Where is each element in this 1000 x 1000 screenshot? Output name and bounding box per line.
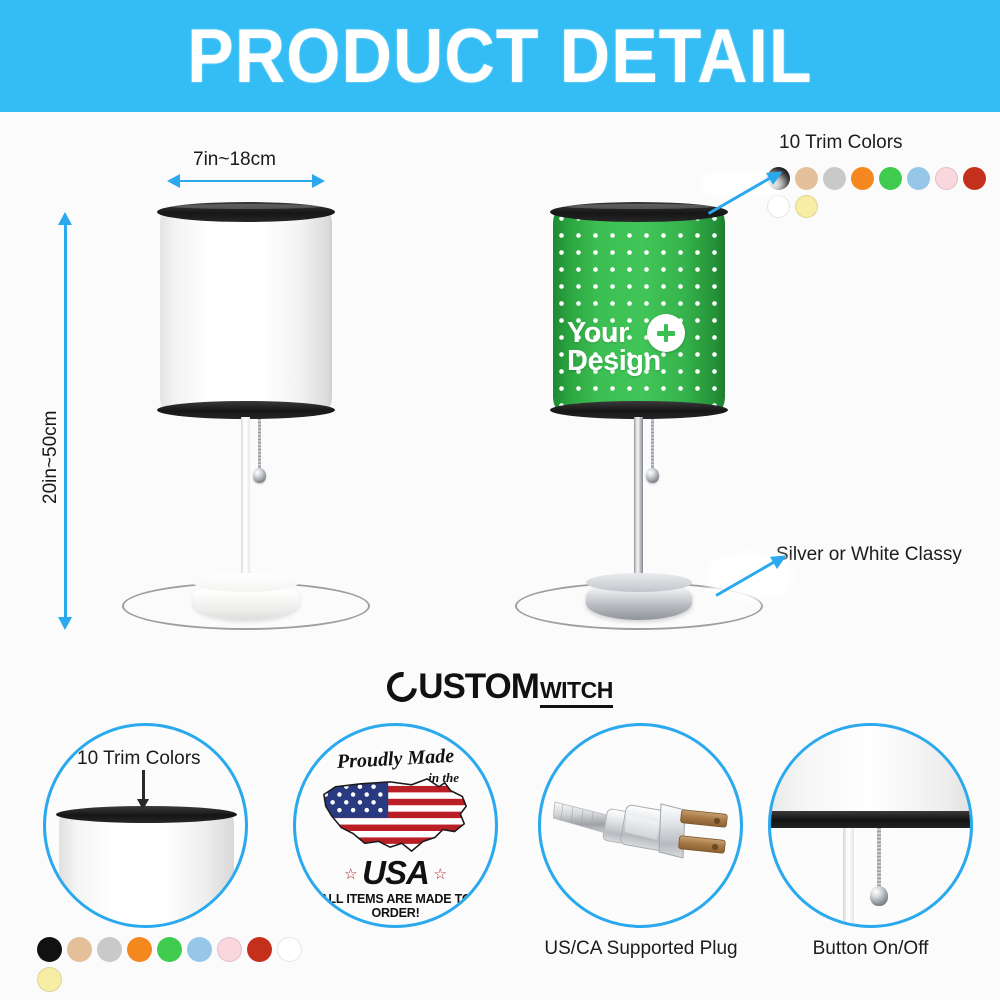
- shade-trim-bottom: [768, 811, 973, 828]
- pull-chain-bead[interactable]: [253, 468, 266, 483]
- lamp-base-top: [193, 573, 299, 592]
- trim-swatch-pink[interactable]: [217, 937, 242, 962]
- star-icon-right: ☆: [434, 865, 447, 883]
- product-detail-page: PRODUCT DETAIL 7in~18cm 20in~50cm: [0, 0, 1000, 1000]
- feature-caption: US/CA Supported Plug: [507, 938, 775, 960]
- shade-surface: [553, 210, 725, 410]
- brand-logo: USTOM WITCH: [0, 657, 1000, 717]
- trim-swatch-pink[interactable]: [935, 167, 958, 190]
- your-design-text: Your Design: [567, 320, 717, 375]
- trim-swatch-green[interactable]: [157, 937, 182, 962]
- pull-chain[interactable]: [877, 828, 881, 890]
- logo-main-text: USTOM: [418, 667, 539, 707]
- trim-swatch-gray[interactable]: [97, 937, 122, 962]
- lamp-base: [193, 580, 299, 620]
- trim-colors-callout-label: 10 Trim Colors: [779, 132, 903, 154]
- plus-icon[interactable]: [647, 314, 685, 352]
- usa-title: Proudly Made: [296, 743, 496, 776]
- pull-chain-bead[interactable]: [870, 886, 888, 906]
- trim-swatch-white[interactable]: [767, 195, 790, 218]
- pull-chain[interactable]: [258, 419, 261, 471]
- trim-swatch-yellow[interactable]: [795, 195, 818, 218]
- shade-surface: [160, 210, 332, 410]
- star-icon-left: ☆: [344, 865, 357, 883]
- header-banner: PRODUCT DETAIL: [0, 0, 1000, 112]
- usa-word: USA: [296, 854, 495, 892]
- usa-map-flag-icon: [318, 773, 474, 857]
- trim-swatch-red[interactable]: [247, 937, 272, 962]
- lamp-base-top: [586, 573, 692, 592]
- trim-swatch-orange[interactable]: [127, 937, 152, 962]
- shade-trim-top: [157, 202, 335, 222]
- feature-caption: Button On/Off: [754, 938, 987, 960]
- width-dimension-arrow: [178, 180, 314, 182]
- logo-c-icon: [381, 666, 423, 708]
- height-dimension-arrow: [64, 224, 67, 618]
- your-design-line2: Design: [567, 348, 717, 376]
- height-dimension-label: 20in~50cm: [40, 411, 62, 504]
- shade-trim-top: [550, 202, 728, 222]
- trim-swatch-green[interactable]: [879, 167, 902, 190]
- feature-circle: Proudly Made in the: [293, 723, 498, 928]
- trim-swatch-yellow[interactable]: [37, 967, 62, 992]
- usa-footer-text: ALL ITEMS ARE MADE TO ORDER!: [296, 892, 495, 920]
- trim-swatch-light-blue[interactable]: [187, 937, 212, 962]
- page-title: PRODUCT DETAIL: [187, 13, 812, 100]
- pull-chain[interactable]: [651, 419, 654, 471]
- trim-swatch-white[interactable]: [277, 937, 302, 962]
- base-finish-callout-label: Silver or White Classy: [776, 544, 962, 566]
- shade-surface: [59, 814, 234, 928]
- trim-swatch-light-blue[interactable]: [907, 167, 930, 190]
- trim-swatch-tan[interactable]: [67, 937, 92, 962]
- trim-swatch-tan[interactable]: [795, 167, 818, 190]
- shade-surface: [768, 723, 973, 814]
- main-stage: 7in~18cm 20in~50cm: [0, 112, 1000, 657]
- width-dimension-label: 7in~18cm: [193, 149, 276, 171]
- plug-icon: [553, 778, 735, 898]
- logo-sub-text: WITCH: [540, 677, 613, 708]
- your-design-line1: Your: [567, 320, 717, 348]
- trim-pointer-arrow: [142, 770, 145, 800]
- pull-chain-bead[interactable]: [646, 468, 659, 483]
- trim-swatch-orange[interactable]: [851, 167, 874, 190]
- lamp-shade-custom: Your Design: [553, 202, 725, 417]
- feature-circle: [538, 723, 743, 928]
- trim-swatch-gray[interactable]: [823, 167, 846, 190]
- trim-swatch-red[interactable]: [963, 167, 986, 190]
- feature-inline-label: 10 Trim Colors: [77, 748, 201, 770]
- lamp-shade-white: [160, 202, 332, 417]
- lamp-base: [586, 580, 692, 620]
- lamp-pole: [843, 828, 854, 928]
- trim-swatch-black[interactable]: [37, 937, 62, 962]
- feature-row: 10 Trim Colors Proudly Made in the: [0, 715, 1000, 1000]
- trim-colors-swatches-bottom: [37, 937, 305, 992]
- trim-colors-swatches-top: [767, 167, 1000, 218]
- feature-circle: [768, 723, 973, 928]
